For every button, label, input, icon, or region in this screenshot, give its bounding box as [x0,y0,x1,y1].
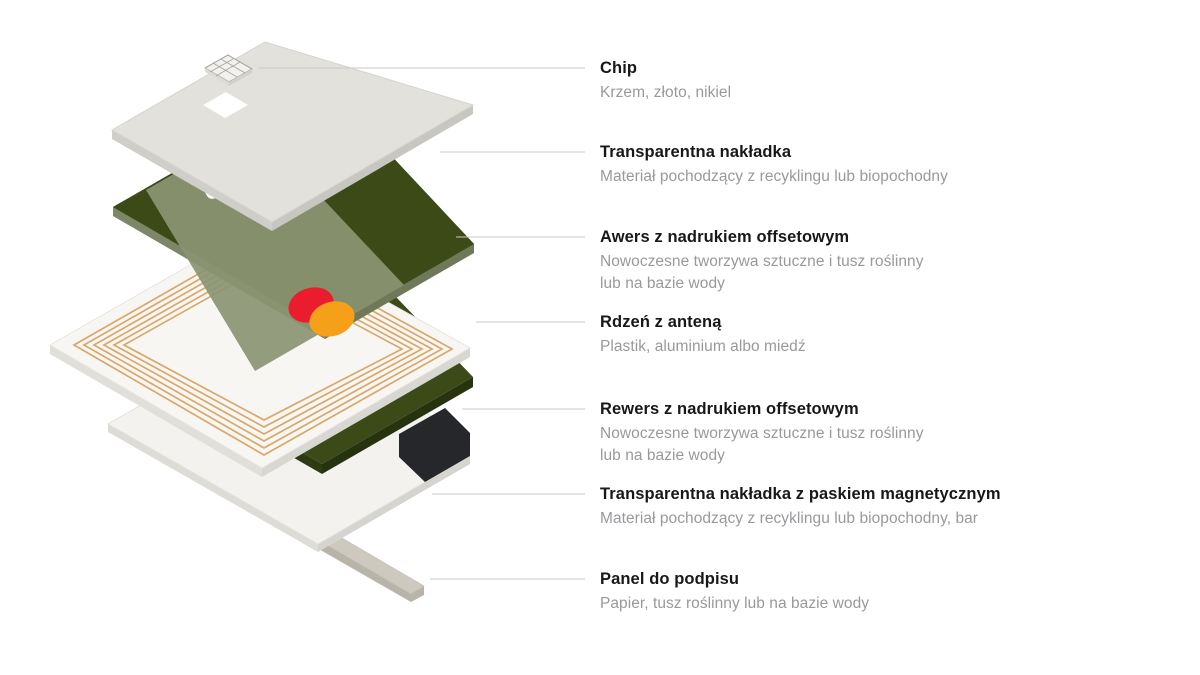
callout-front-offset-print-desc-line-2: lub na bazie wody [600,273,1160,295]
callout-signature-panel-desc: Papier, tusz roślinny lub na bazie wody [600,593,1160,615]
callout-reverse-offset-print-title: Rewers z nadrukiem offsetowym [600,399,1160,420]
callout-transparent-overlay-front-title: Transparentna nakładka [600,142,1160,163]
callout-transparent-overlay-front-desc: Materiał pochodzący z recyklingu lub bio… [600,166,1160,188]
callout-chip-desc-line-1: Krzem, złoto, nikiel [600,82,1160,104]
callout-reverse-offset-print-desc: Nowoczesne tworzywa sztuczne i tusz rośl… [600,423,1160,467]
callout-front-offset-print-desc-line-1: Nowoczesne tworzywa sztuczne i tusz rośl… [600,251,1160,273]
callout-transparent-overlay-front-desc-line-1: Materiał pochodzący z recyklingu lub bio… [600,166,1160,188]
callout-core-antenna: Rdzeń z anteną Plastik, aluminium albo m… [600,312,1160,358]
callout-reverse-offset-print: Rewers z nadrukiem offsetowym Nowoczesne… [600,399,1160,467]
callout-front-offset-print: Awers z nadrukiem offsetowym Nowoczesne … [600,227,1160,295]
callout-chip-title: Chip [600,58,1160,79]
callout-transparent-overlay-back-title: Transparentna nakładka z paskiem magnety… [600,484,1160,505]
callout-signature-panel: Panel do podpisu Papier, tusz roślinny l… [600,569,1160,615]
callout-label-column: Chip Krzem, złoto, nikiel Transparentna … [600,0,1200,675]
callout-transparent-overlay-back-desc-line-1: Materiał pochodzący z recyklingu lub bio… [600,508,1160,530]
callout-signature-panel-title: Panel do podpisu [600,569,1160,590]
callout-transparent-overlay-back: Transparentna nakładka z paskiem magnety… [600,484,1160,530]
callout-front-offset-print-desc: Nowoczesne tworzywa sztuczne i tusz rośl… [600,251,1160,295]
callout-core-antenna-desc-line-1: Plastik, aluminium albo miedź [600,336,1160,358]
callout-reverse-offset-print-desc-line-2: lub na bazie wody [600,445,1160,467]
callout-signature-panel-desc-line-1: Papier, tusz roślinny lub na bazie wody [600,593,1160,615]
callout-core-antenna-title: Rdzeń z anteną [600,312,1160,333]
callout-transparent-overlay-back-desc: Materiał pochodzący z recyklingu lub bio… [600,508,1160,530]
callout-chip: Chip Krzem, złoto, nikiel [600,58,1160,104]
callout-transparent-overlay-front: Transparentna nakładka Materiał pochodzą… [600,142,1160,188]
callout-reverse-offset-print-desc-line-1: Nowoczesne tworzywa sztuczne i tusz rośl… [600,423,1160,445]
callout-chip-desc: Krzem, złoto, nikiel [600,82,1160,104]
callout-core-antenna-desc: Plastik, aluminium albo miedź [600,336,1160,358]
callout-front-offset-print-title: Awers z nadrukiem offsetowym [600,227,1160,248]
